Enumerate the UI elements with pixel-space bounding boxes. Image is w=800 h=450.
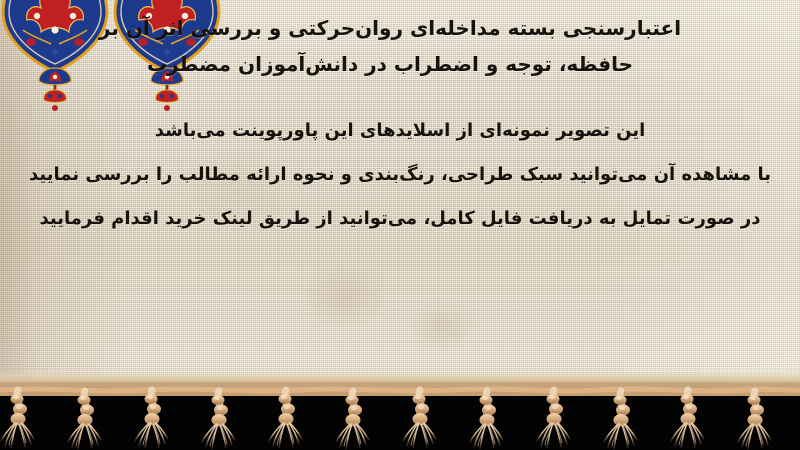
body-line-3: در صورت تمایل به دریافت فایل کامل، می‌تو…: [20, 202, 780, 236]
slide-text-layer: اعتبارسنجی بسته مداخله‌ای روان‌حرکتی و ب…: [0, 0, 800, 392]
slide-body: این تصویر نمونه‌ای از اسلایدهای این پاور…: [20, 114, 780, 236]
black-field: [0, 382, 800, 450]
title-line-2: حافظه، توجه و اضطراب در دانش‌آموزان مضطر…: [20, 46, 760, 82]
title-line-1: اعتبارسنجی بسته مداخله‌ای روان‌حرکتی و ب…: [20, 10, 760, 46]
body-line-1: این تصویر نمونه‌ای از اسلایدهای این پاور…: [20, 114, 780, 148]
presentation-slide: اعتبارسنجی بسته مداخله‌ای روان‌حرکتی و ب…: [0, 0, 800, 450]
body-line-2: با مشاهده آن می‌توانید سبک طراحی، رنگ‌بن…: [20, 158, 780, 192]
slide-title: اعتبارسنجی بسته مداخله‌ای روان‌حرکتی و ب…: [20, 10, 760, 82]
tassel-row: [1, 390, 771, 450]
